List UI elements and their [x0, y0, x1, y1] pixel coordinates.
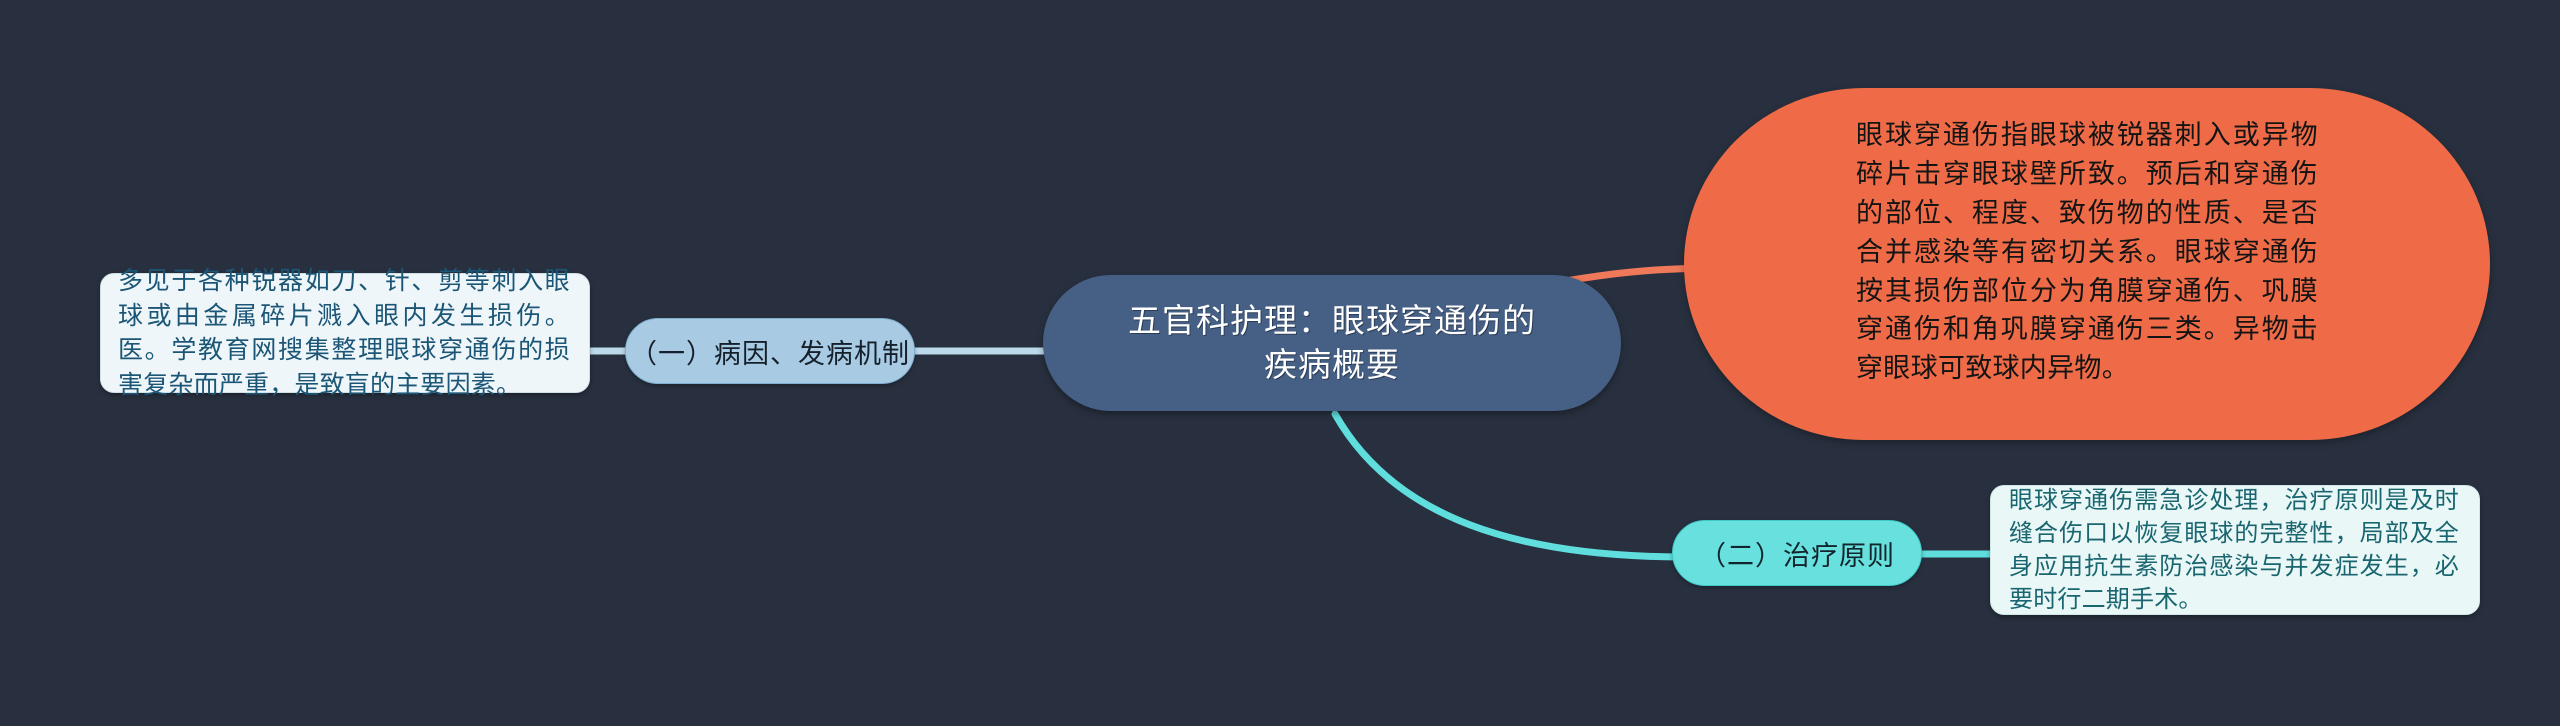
leaf-card-treatment-text: 眼球穿通伤需急诊处理，治疗原则是及时缝合伤口以恢复眼球的完整性，局部及全身应用抗…	[2009, 484, 2459, 616]
branch-pill-cause-label: （一）病因、发病机制	[630, 332, 910, 371]
overview-capsule[interactable]: 眼球穿通伤指眼球被锐器刺入或异物碎片击穿眼球壁所致。预后和穿通伤的部位、程度、致…	[1684, 88, 2490, 440]
connector-root-to-treatment	[1335, 414, 1680, 557]
leaf-card-cause-text: 多见于各种锐器如刀、针、剪等刺入眼球或由金属碎片溅入眼内发生损伤。医。学教育网搜…	[118, 264, 570, 402]
branch-pill-treatment[interactable]: （二）治疗原则	[1672, 520, 1922, 586]
mindmap-canvas: 多见于各种锐器如刀、针、剪等刺入眼球或由金属碎片溅入眼内发生损伤。医。学教育网搜…	[0, 0, 2560, 726]
overview-capsule-text: 眼球穿通伤指眼球被锐器刺入或异物碎片击穿眼球壁所致。预后和穿通伤的部位、程度、致…	[1856, 116, 2318, 388]
branch-pill-cause[interactable]: （一）病因、发病机制	[625, 318, 915, 384]
root-node[interactable]: 五官科护理：眼球穿通伤的疾病概要	[1043, 275, 1621, 411]
branch-pill-treatment-label: （二）治疗原则	[1699, 534, 1895, 573]
leaf-card-cause[interactable]: 多见于各种锐器如刀、针、剪等刺入眼球或由金属碎片溅入眼内发生损伤。医。学教育网搜…	[100, 273, 590, 393]
leaf-card-treatment[interactable]: 眼球穿通伤需急诊处理，治疗原则是及时缝合伤口以恢复眼球的完整性，局部及全身应用抗…	[1990, 485, 2480, 615]
root-node-title: 五官科护理：眼球穿通伤的疾病概要	[1117, 299, 1547, 387]
